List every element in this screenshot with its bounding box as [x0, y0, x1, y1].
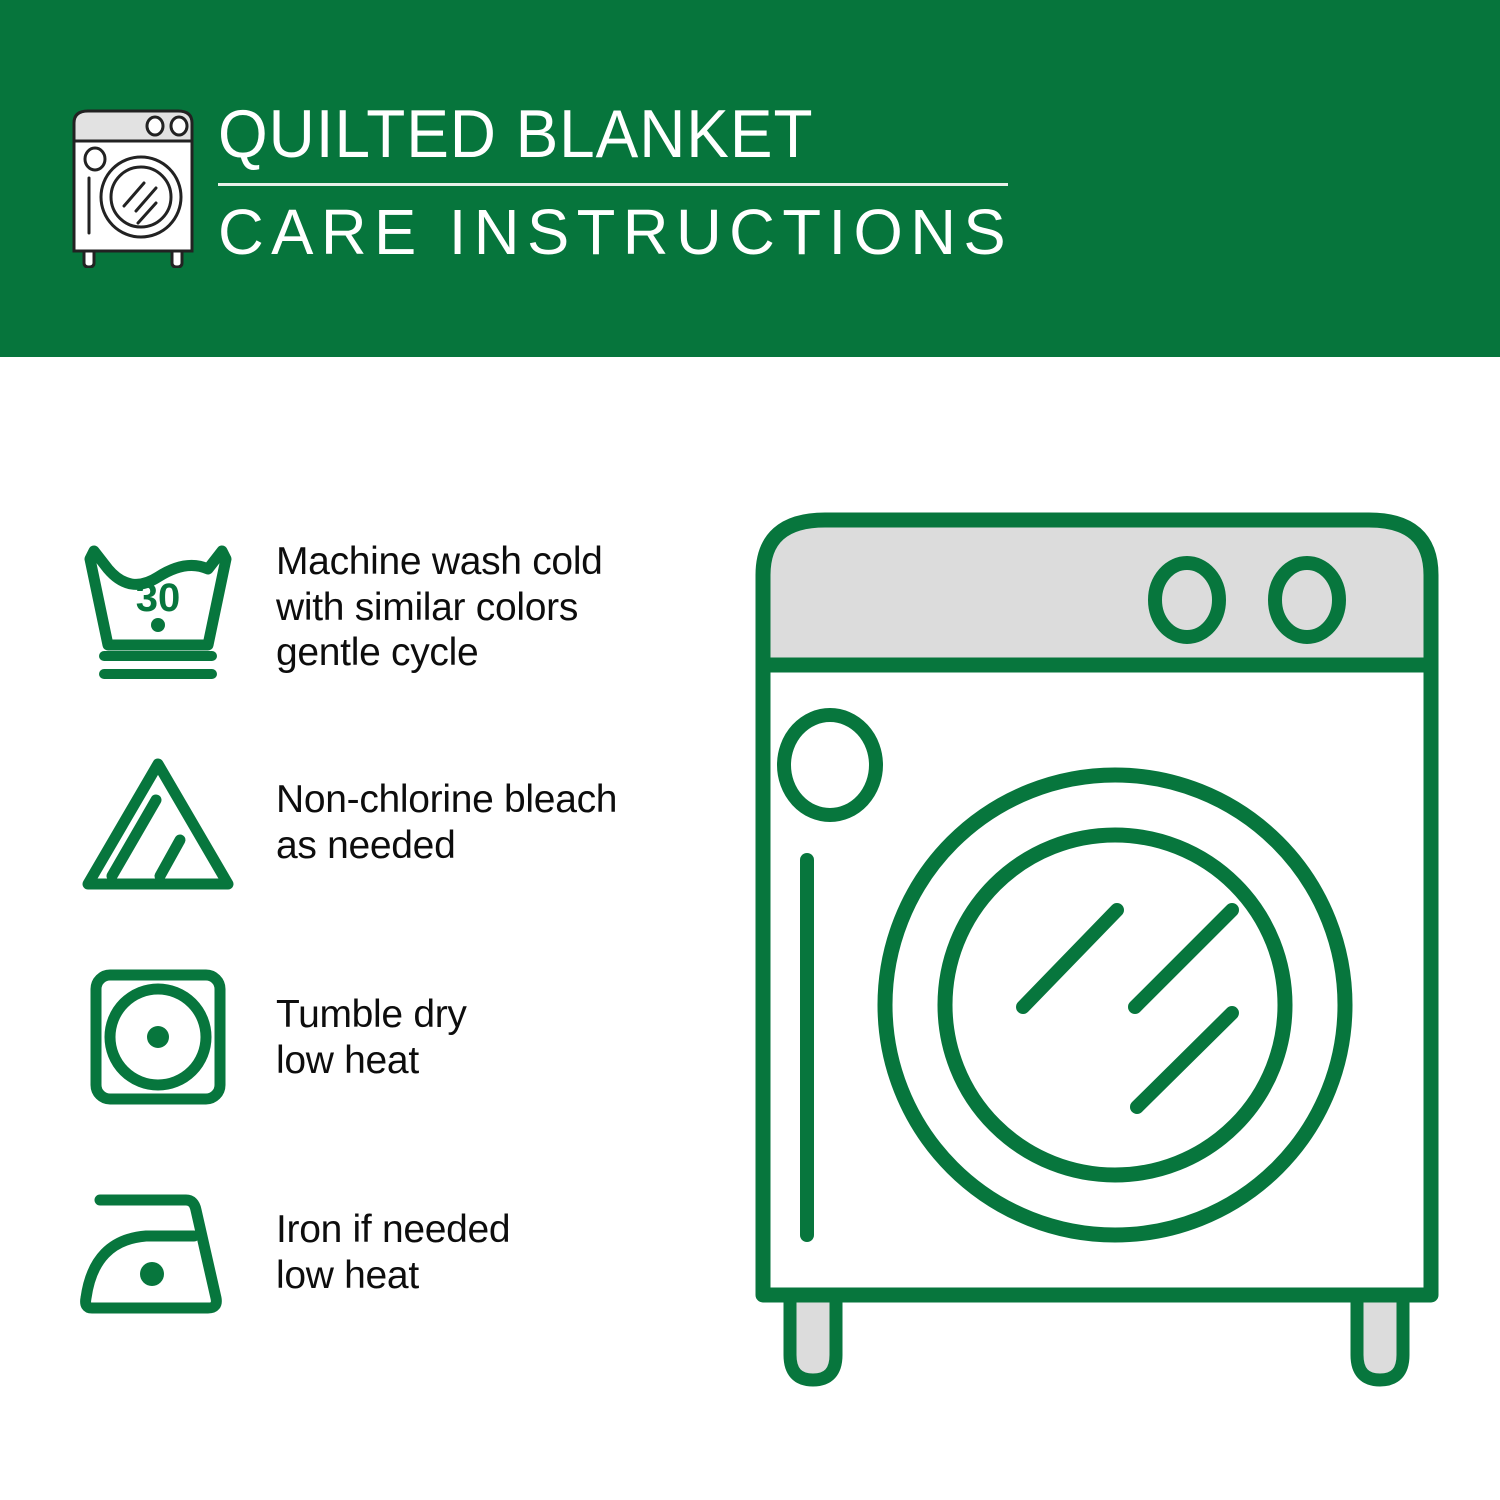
header-text-block: QUILTED BLANKET CARE INSTRUCTIONS — [218, 96, 1018, 267]
care-row-tumble-dry: Tumble dry low heat — [0, 930, 720, 1145]
care-label-machine-wash: Machine wash cold with similar colors ge… — [276, 539, 603, 676]
care-line: low heat — [276, 1253, 510, 1299]
care-row-bleach: Non-chlorine bleach as needed — [0, 715, 720, 930]
title-divider — [218, 183, 1008, 186]
care-line: as needed — [276, 823, 617, 869]
front-load-washing-machine-illustration — [745, 495, 1455, 1415]
care-line: low heat — [276, 1038, 467, 1084]
care-line: Iron if needed — [276, 1207, 510, 1253]
tumble-dry-low-icon — [68, 948, 248, 1128]
wash-tub-30-gentle-icon: 30 — [68, 518, 248, 698]
care-line: Machine wash cold — [276, 539, 603, 585]
care-line: with similar colors — [276, 585, 603, 631]
care-label-bleach: Non-chlorine bleach as needed — [276, 777, 617, 868]
care-label-tumble-dry: Tumble dry low heat — [276, 992, 467, 1083]
care-instructions-page: QUILTED BLANKET CARE INSTRUCTIONS 30 — [0, 0, 1500, 1500]
page-title: QUILTED BLANKET — [218, 96, 970, 172]
care-row-machine-wash: 30 Machine wash cold with similar colors… — [0, 500, 720, 715]
wash-temperature-label: 30 — [136, 576, 181, 620]
care-instruction-list: 30 Machine wash cold with similar colors… — [0, 500, 720, 1360]
washing-machine-icon — [62, 103, 212, 268]
care-line: Tumble dry — [276, 992, 467, 1038]
care-line: Non-chlorine bleach — [276, 777, 617, 823]
header-banner: QUILTED BLANKET CARE INSTRUCTIONS — [0, 0, 1500, 357]
care-label-iron: Iron if needed low heat — [276, 1207, 510, 1298]
care-line: gentle cycle — [276, 630, 603, 676]
care-row-iron: Iron if needed low heat — [0, 1145, 720, 1360]
page-subtitle: CARE INSTRUCTIONS — [218, 197, 1010, 267]
iron-low-heat-icon — [68, 1163, 248, 1343]
non-chlorine-bleach-triangle-icon — [68, 733, 248, 913]
